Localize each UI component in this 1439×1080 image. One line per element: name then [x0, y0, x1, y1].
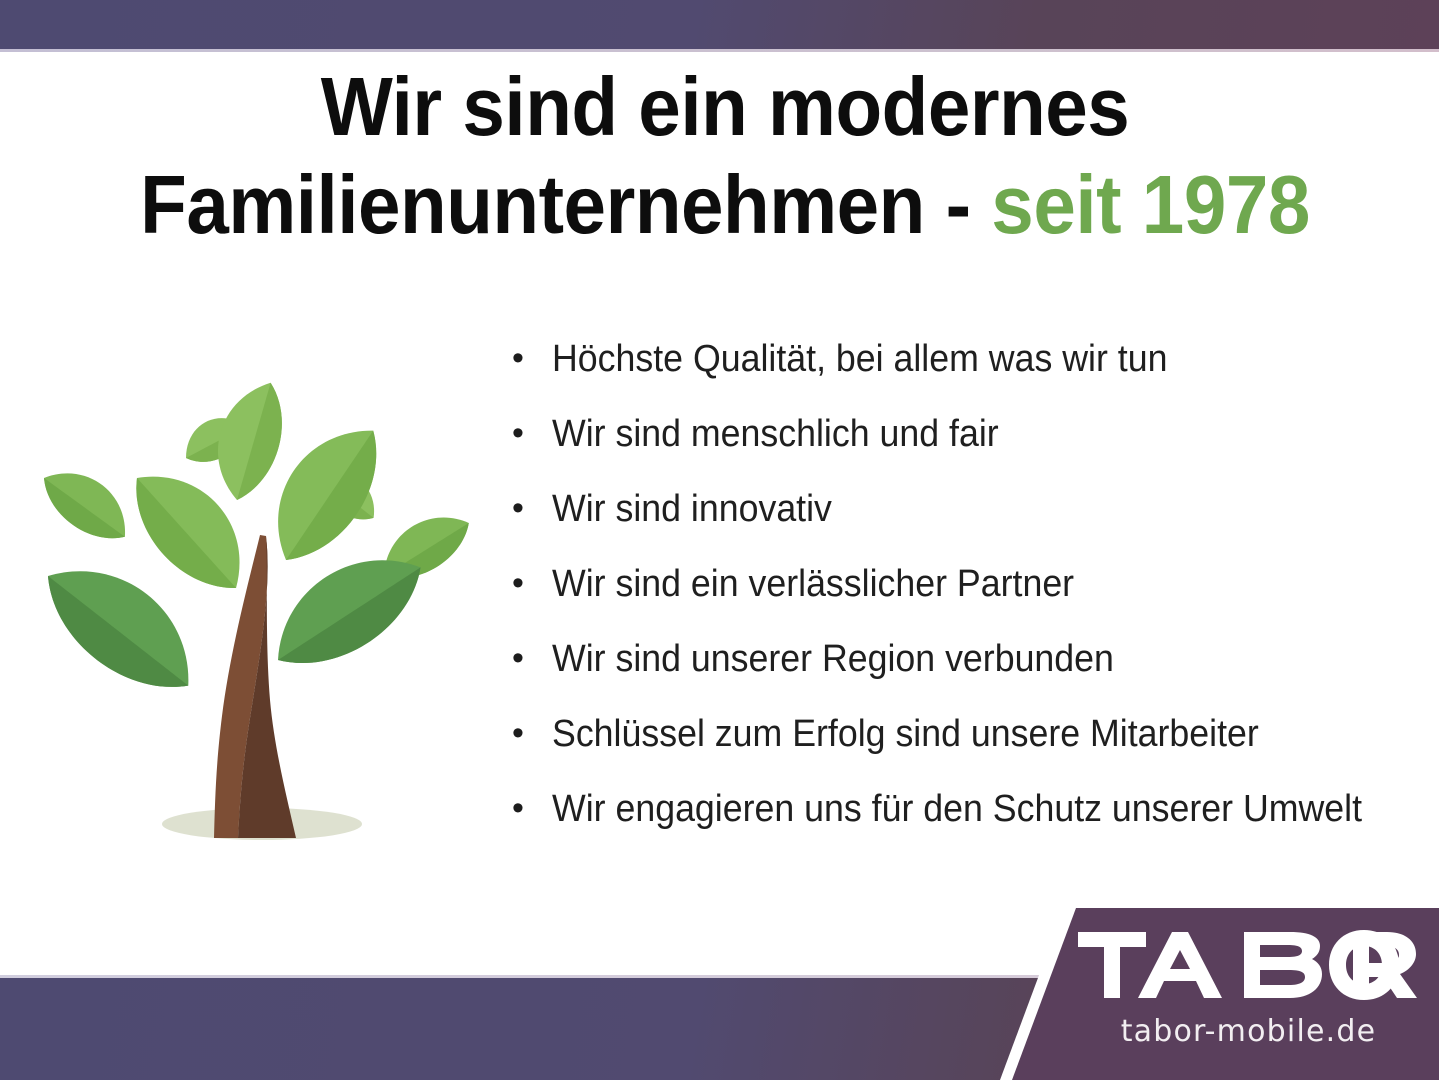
- headline-line-2-prefix: Familienunternehmen -: [140, 158, 991, 251]
- bullet-marker-icon: •: [512, 566, 552, 600]
- bullet-marker-icon: •: [512, 491, 552, 525]
- list-item-label: Wir sind ein verlässlicher Partner: [552, 565, 1370, 603]
- bullet-marker-icon: •: [512, 341, 552, 375]
- headline-accent-year: seit 1978: [991, 158, 1310, 251]
- list-item: • Wir sind menschlich und fair: [512, 415, 1422, 490]
- bullet-marker-icon: •: [512, 716, 552, 750]
- headline-line-1: Wir sind ein modernes: [113, 58, 1337, 156]
- brand-logo-panel: tabor-mobile.de: [1000, 906, 1439, 1080]
- list-item: • Wir sind innovativ: [512, 490, 1422, 565]
- list-item: • Wir engagieren uns für den Schutz unse…: [512, 790, 1422, 865]
- presentation-slide: Wir sind ein modernes Familienunternehme…: [0, 0, 1439, 1080]
- brand-url: tabor-mobile.de: [1076, 1014, 1421, 1049]
- list-item-label: Wir engagieren uns für den Schutz unsere…: [552, 790, 1370, 828]
- list-item-label: Wir sind menschlich und fair: [552, 415, 1370, 453]
- headline-line-2: Familienunternehmen - seit 1978: [113, 156, 1337, 254]
- leaf-mid-left: [34, 455, 142, 554]
- bullet-marker-icon: •: [512, 416, 552, 450]
- list-item-label: Wir sind innovativ: [552, 490, 1370, 528]
- bullet-marker-icon: •: [512, 791, 552, 825]
- list-item-label: Höchste Qualität, bei allem was wir tun: [552, 340, 1370, 378]
- bullet-marker-icon: •: [512, 641, 552, 675]
- list-item: • Wir sind ein verlässlicher Partner: [512, 565, 1422, 640]
- value-list: • Höchste Qualität, bei allem was wir tu…: [512, 340, 1422, 865]
- tabor-wordmark: [1076, 928, 1421, 1000]
- list-item-label: Schlüssel zum Erfolg sind unsere Mitarbe…: [552, 715, 1370, 753]
- list-item: • Schlüssel zum Erfolg sind unsere Mitar…: [512, 715, 1422, 790]
- list-item-label: Wir sind unserer Region verbunden: [552, 640, 1370, 678]
- page-title: Wir sind ein modernes Familienunternehme…: [113, 58, 1337, 254]
- list-item: • Wir sind unserer Region verbunden: [512, 640, 1422, 715]
- list-item: • Höchste Qualität, bei allem was wir tu…: [512, 340, 1422, 415]
- top-accent-bar: [0, 0, 1439, 49]
- top-accent-bar-hairline: [0, 49, 1439, 52]
- tree-illustration: [34, 370, 502, 862]
